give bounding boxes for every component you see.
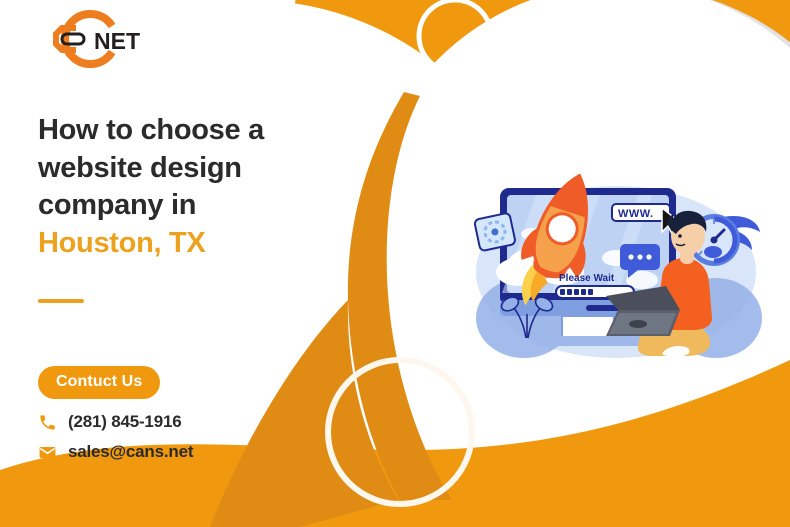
contact-email-row[interactable]: sales@cans.net <box>36 438 193 466</box>
loading-card <box>474 213 516 252</box>
headline-city: Houston, TX <box>38 225 368 263</box>
laptop-trackpad <box>629 320 647 328</box>
progress-fill <box>560 289 593 295</box>
chat-dots <box>628 254 651 259</box>
headline-line-1: How to choose a <box>38 114 264 146</box>
logo-wordmark: NET <box>94 28 140 54</box>
speedometer-hub <box>711 237 718 244</box>
email-address: sales@cans.net <box>68 442 193 462</box>
monitor-neck <box>562 316 614 338</box>
person-eye <box>678 234 682 238</box>
brand-logo[interactable]: NET <box>32 8 152 70</box>
title-divider <box>38 299 84 303</box>
speedometer-badge <box>704 246 722 258</box>
contact-list: (281) 845-1916 sales@cans.net <box>36 408 193 468</box>
headline-line-3: company in <box>38 189 196 221</box>
address-bar-text: WWW. <box>618 208 654 220</box>
marketing-banner: NET How to choose a website design compa… <box>0 0 790 527</box>
phone-icon <box>36 411 58 433</box>
website-launch-illustration: WWW. P <box>466 168 762 368</box>
illustration-graphic: WWW. P <box>466 168 762 368</box>
contact-phone-row[interactable]: (281) 845-1916 <box>36 408 193 436</box>
monitor-base <box>536 336 648 346</box>
content-column: NET How to choose a website design compa… <box>0 0 430 527</box>
phone-number: (281) 845-1916 <box>68 412 181 432</box>
headline-line-2: website design <box>38 152 242 184</box>
loading-label: Please Wait <box>559 273 615 284</box>
logo-mark: NET <box>32 8 152 70</box>
logo-outer-arc-top <box>90 14 112 26</box>
page-title: How to choose a website design company i… <box>38 112 368 263</box>
logo-outer-ring <box>65 14 90 64</box>
envelope-icon <box>36 441 58 463</box>
contact-us-button[interactable]: Contuct Us <box>38 366 160 399</box>
